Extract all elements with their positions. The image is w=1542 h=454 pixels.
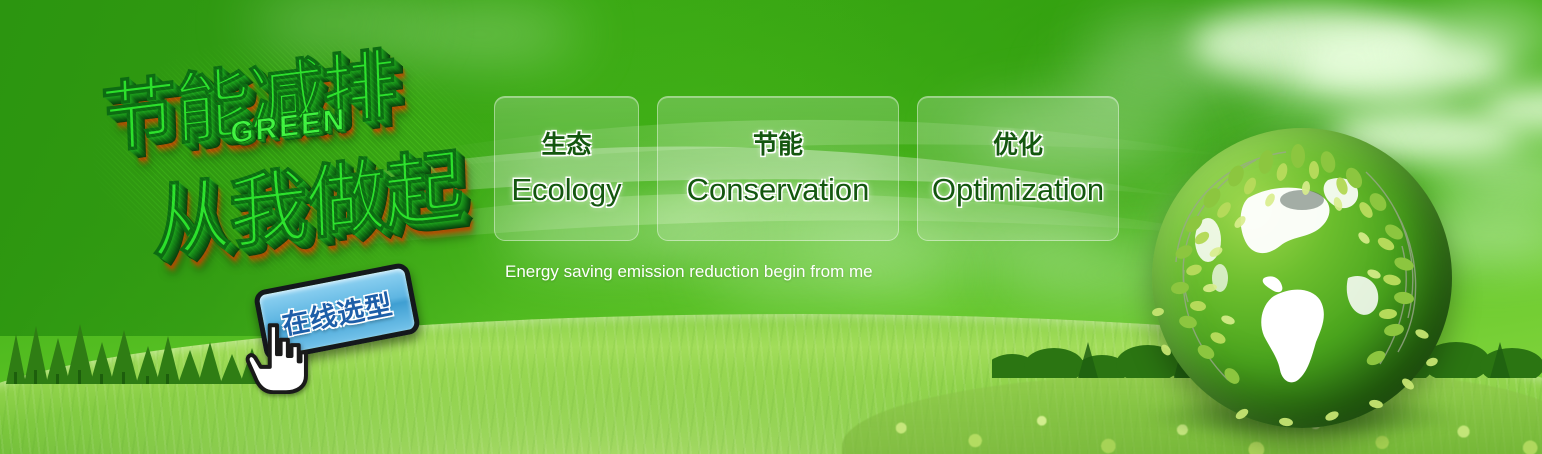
tagline-text: Energy saving emission reduction begin f… <box>505 262 873 282</box>
cloud-icon <box>1092 20 1262 66</box>
card-title-cn: 优化 <box>993 133 1043 158</box>
feature-card-ecology[interactable]: 生态 Ecology <box>494 96 639 241</box>
feature-card-row: 生态 Ecology 节能 Conservation 优化 Optimizati… <box>494 96 1119 241</box>
cloud-icon <box>1250 62 1450 112</box>
globe-continents <box>1152 128 1452 428</box>
feature-card-optimization[interactable]: 优化 Optimization <box>917 96 1119 241</box>
feature-card-conservation[interactable]: 节能 Conservation <box>657 96 899 241</box>
card-title-cn: 节能 <box>753 133 803 158</box>
eco-globe <box>1152 128 1452 428</box>
title-artwork: 节能减排 GREEN 从我做起 <box>92 36 492 276</box>
eco-banner: 节能减排 GREEN 从我做起 在线选型 生态 Ecology 节能 Conse… <box>0 0 1542 454</box>
pointing-hand-cursor-icon <box>244 318 310 394</box>
card-title-cn: 生态 <box>541 133 591 158</box>
card-title-en: Conservation <box>687 174 870 205</box>
card-title-en: Optimization <box>932 174 1104 205</box>
card-title-en: Ecology <box>511 174 621 205</box>
